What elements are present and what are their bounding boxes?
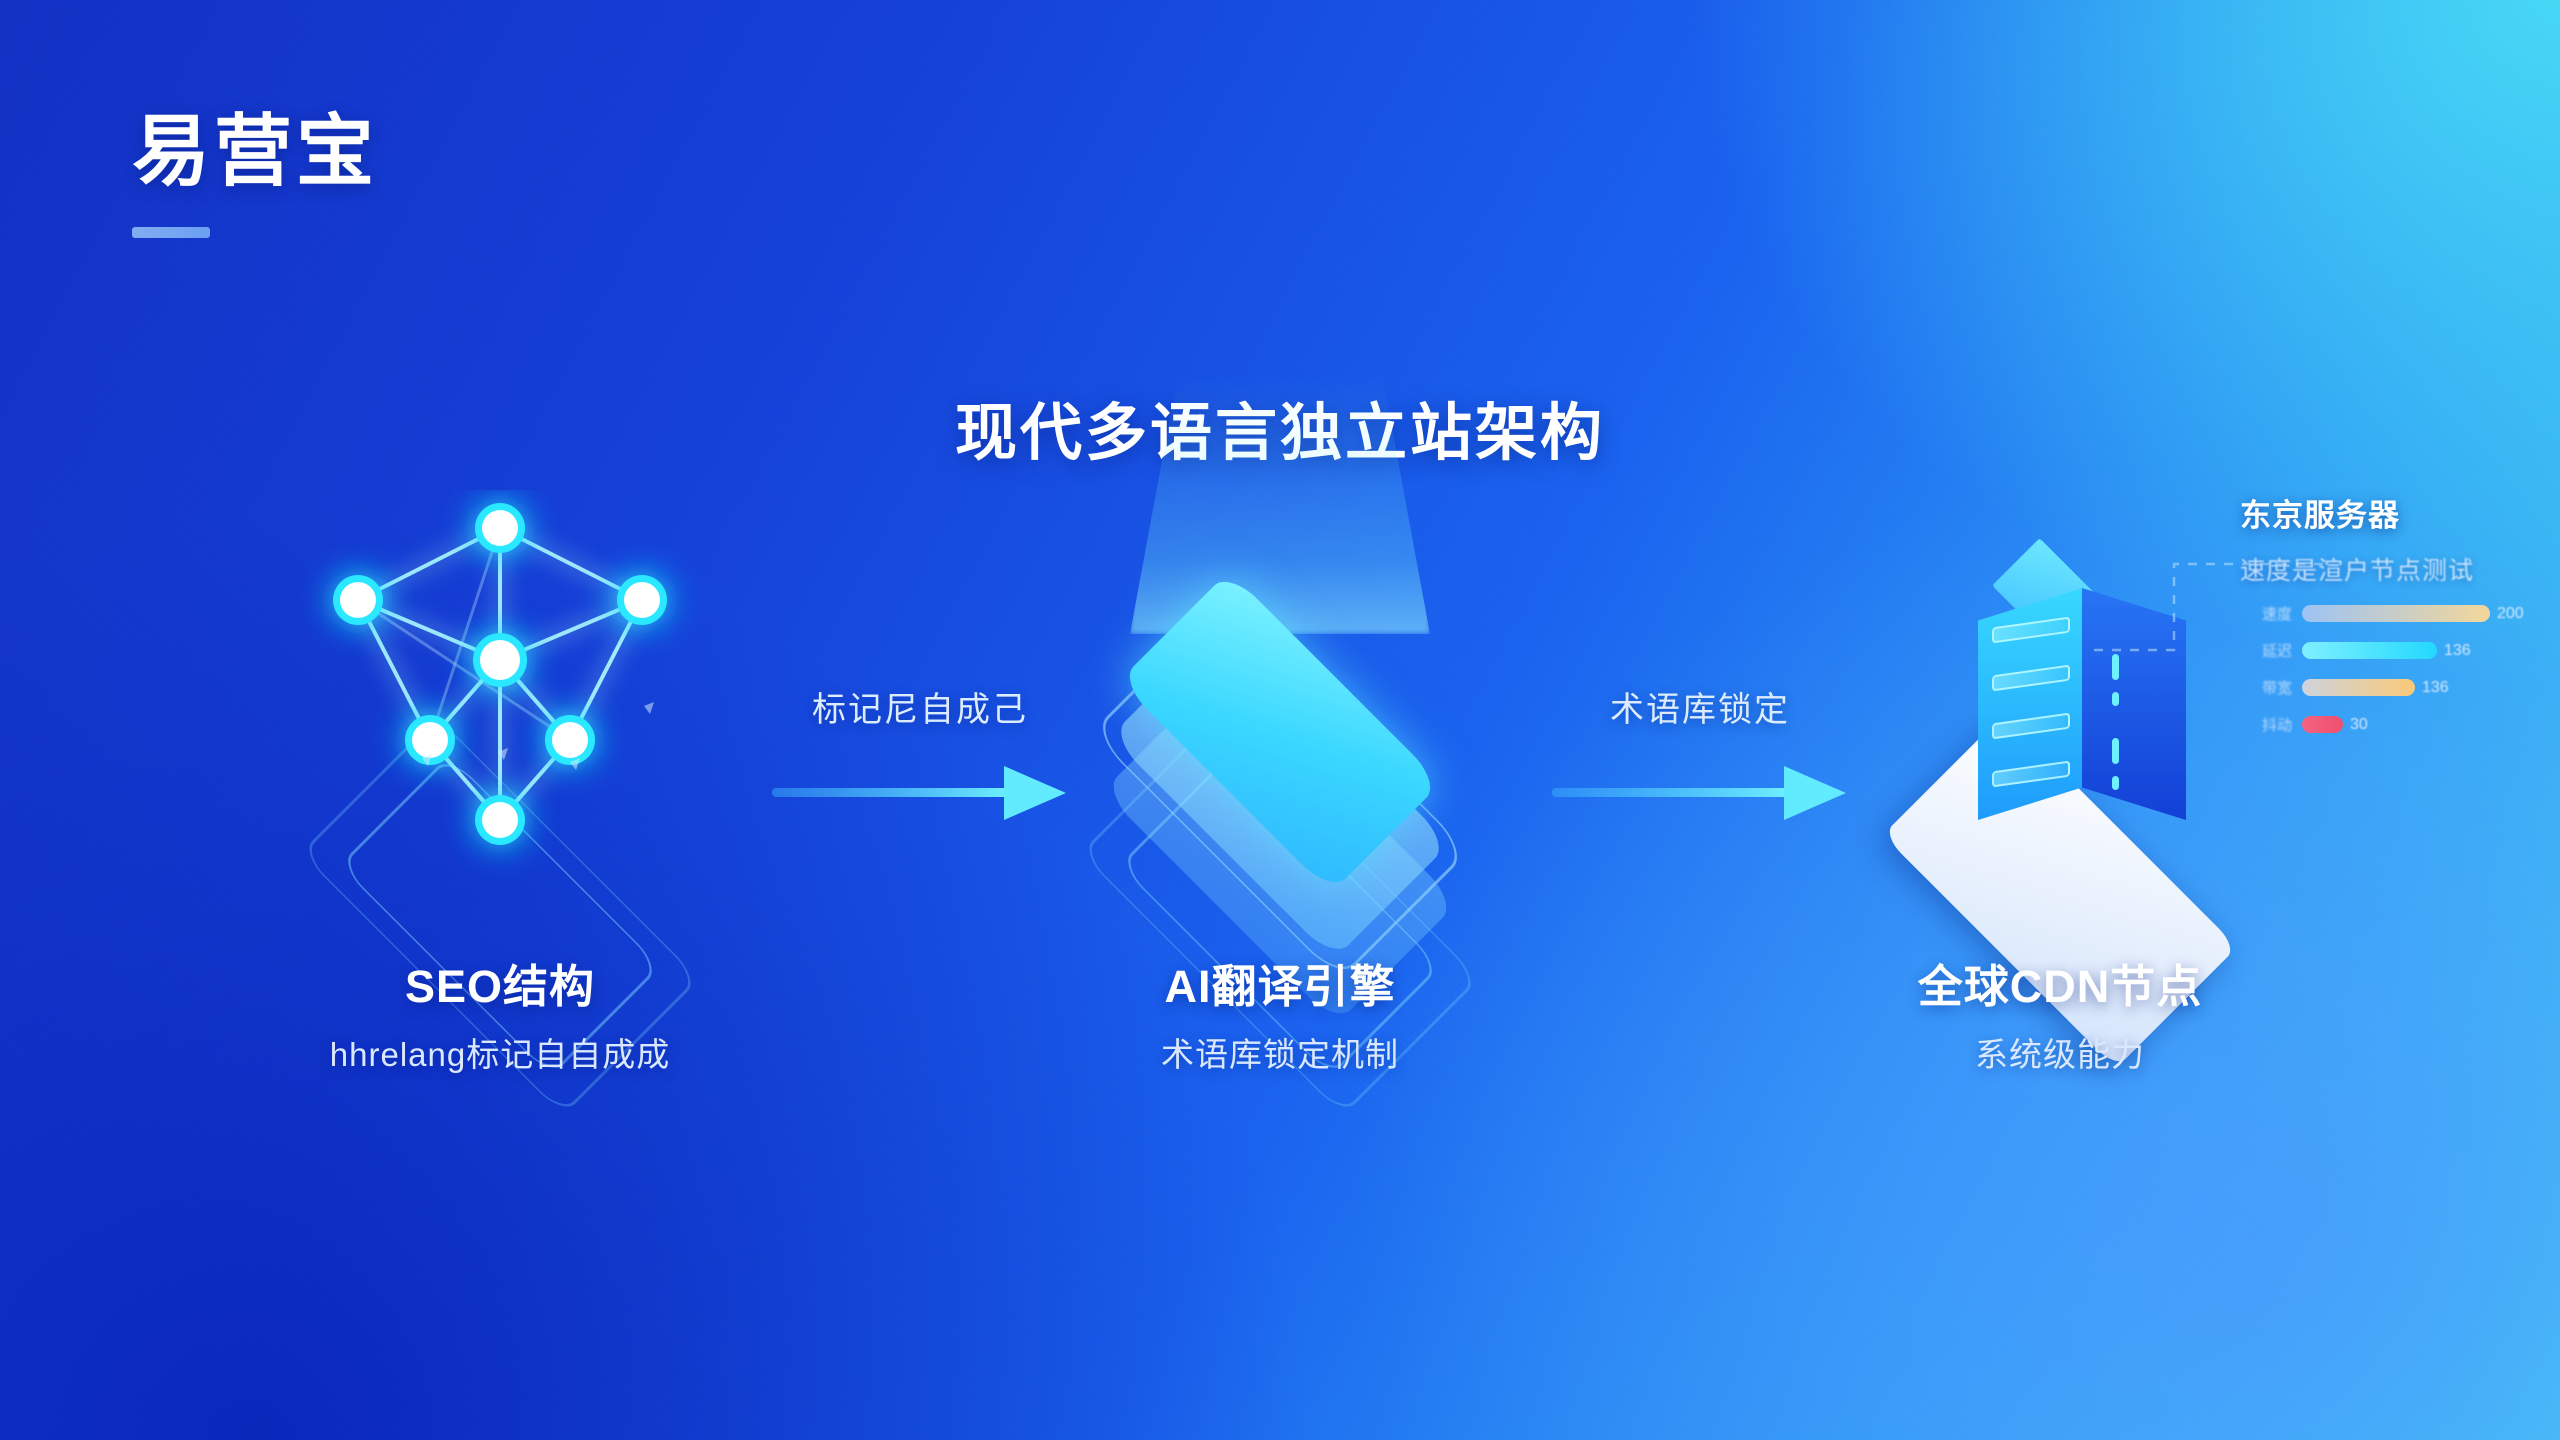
stat-row-value: 136 [2422, 679, 2449, 697]
stat-row-bar [2302, 679, 2415, 696]
stat-row-label: 带宽 [2240, 677, 2302, 698]
flow-arrow-label: 标记尼自成己 [770, 682, 1070, 731]
flow-node-label: SEO结构 [230, 950, 770, 1015]
stats-rows: 速度200延迟136带宽136抖动30 [2240, 603, 2550, 735]
brand-logo-text: 易营宝 [132, 112, 378, 190]
flow-arrow-ai-to-cdn: 术语库锁定 [1550, 750, 1850, 890]
brand-logo-underline [132, 227, 210, 238]
server-stats-panel: 东京服务器 速度是渲户节点测试 速度200延迟136带宽136抖动30 [2240, 490, 2550, 735]
arrow-right-icon [770, 750, 1070, 840]
stat-row-bar [2302, 642, 2437, 659]
stat-row: 速度200 [2240, 603, 2550, 624]
light-beam-icon [1130, 374, 1430, 634]
flow-node-sublabel: hhrelang标记自自成成 [230, 1028, 770, 1076]
stat-row: 延迟136 [2240, 640, 2550, 661]
stats-panel-title: 东京服务器 [2240, 490, 2550, 535]
stat-row: 带宽136 [2240, 677, 2550, 698]
flow-node-sublabel: 系统级能力 [1790, 1028, 2330, 1076]
brand-logo: 易营宝 [132, 112, 378, 238]
stat-row-bar [2302, 605, 2490, 622]
flow-arrow-seo-to-ai: 标记尼自成己 [770, 750, 1070, 890]
arrow-right-icon [1550, 750, 1850, 840]
stat-row-value: 136 [2444, 642, 2471, 660]
stat-row: 抖动30 [2240, 714, 2550, 735]
flow-node-label: AI翻译引擎 [1010, 950, 1550, 1015]
stat-row-label: 延迟 [2240, 640, 2302, 661]
flow-arrow-label: 术语库锁定 [1550, 682, 1850, 731]
stat-row-value: 30 [2350, 716, 2368, 734]
stat-row-label: 抖动 [2240, 714, 2302, 735]
flow-node-label: 全球CDN节点 [1790, 950, 2330, 1015]
stat-row-label: 速度 [2240, 603, 2302, 624]
stat-row-value: 200 [2497, 605, 2524, 623]
stats-panel-subtitle: 速度是渲户节点测试 [2240, 551, 2550, 587]
flow-node-sublabel: 术语库锁定机制 [1010, 1028, 1550, 1076]
flow-arrows: 标记尼自成己 术语库锁定 [0, 750, 2560, 890]
stat-row-bar [2302, 716, 2343, 733]
